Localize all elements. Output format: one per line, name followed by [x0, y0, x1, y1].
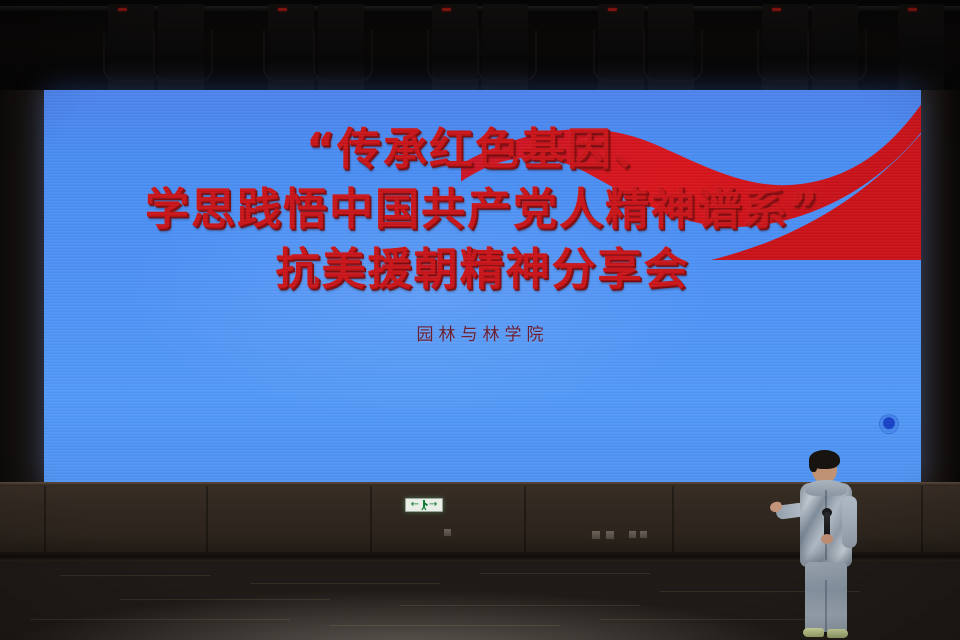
led-screen: “传承红色基因、 学思践悟中国共产党人精神谱系” 抗美援朝精神分享会 园林与林学…: [44, 90, 921, 482]
presenter-shoe-right: [827, 629, 848, 638]
wall-left: [0, 90, 44, 482]
wall-outlet: [591, 530, 601, 540]
exit-right-arrow-icon: →: [429, 500, 437, 510]
floor-plank-seam: [400, 605, 640, 606]
slide-title-line-2: 学思践悟中国共产党人精神谱系”: [44, 185, 921, 235]
wall-panel-seam: [524, 486, 526, 554]
stage-light-icon: [812, 4, 858, 96]
stage-photo: “传承红色基因、 学思践悟中国共产党人精神谱系” 抗美援朝精神分享会 园林与林学…: [0, 0, 960, 640]
stage-light-icon: [482, 4, 528, 96]
floor-plank-seam: [250, 583, 440, 584]
presenter-right-hand: [821, 534, 833, 544]
light-indicator-led: [442, 8, 451, 11]
wall-switch: [628, 530, 637, 539]
presenter: [778, 450, 888, 640]
presenter-shoe-left: [803, 628, 824, 637]
stage-light-icon: [598, 4, 644, 96]
wall-panel-seam: [370, 486, 372, 554]
stage-light-icon: [268, 4, 314, 96]
presenter-hair-side: [809, 458, 817, 472]
stage-light-icon: [898, 4, 944, 96]
light-yoke: [153, 30, 213, 82]
slide-subtitle-organization: 园林与林学院: [44, 320, 921, 345]
exit-left-arrow-icon: ←: [411, 500, 419, 510]
slide-title-line-3: 抗美援朝精神分享会: [44, 245, 921, 295]
light-yoke: [643, 30, 703, 82]
wall-panel-seam: [921, 486, 923, 554]
floor-plank-seam: [60, 575, 210, 576]
light-yoke: [313, 30, 373, 82]
wall-outlet: [605, 530, 615, 540]
presenter-pants-seam: [825, 580, 827, 632]
light-yoke: [477, 30, 537, 82]
wall-switch: [639, 530, 648, 539]
slide-title-line-1: “传承红色基因、: [44, 125, 921, 175]
wall-outlet: [443, 528, 452, 537]
wall-panel-seam: [206, 486, 208, 554]
floor-plank-seam: [480, 573, 650, 574]
stage-light-icon: [432, 4, 478, 96]
stage-light-icon: [762, 4, 808, 96]
light-yoke: [807, 30, 867, 82]
floor-plank-seam: [120, 599, 330, 600]
light-indicator-led: [608, 8, 617, 11]
emergency-exit-sign: ← →: [405, 498, 443, 512]
wall-panel-seam: [672, 486, 674, 554]
light-indicator-led: [118, 8, 127, 11]
running-person-icon: [420, 500, 428, 510]
stage-light-icon: [158, 4, 204, 96]
floor-plank-seam: [330, 625, 560, 626]
presenter-right-arm: [842, 496, 857, 548]
stage-light-icon: [648, 4, 694, 96]
floor-plank-seam: [30, 619, 290, 620]
stage-light-icon: [318, 4, 364, 96]
wall-panel-seam: [44, 486, 46, 554]
light-indicator-led: [772, 8, 781, 11]
light-indicator-led: [908, 8, 917, 11]
stage-light-icon: [108, 4, 154, 96]
wall-right: [921, 90, 960, 482]
screen-watermark-logo-icon: [879, 414, 899, 434]
light-indicator-led: [278, 8, 287, 11]
